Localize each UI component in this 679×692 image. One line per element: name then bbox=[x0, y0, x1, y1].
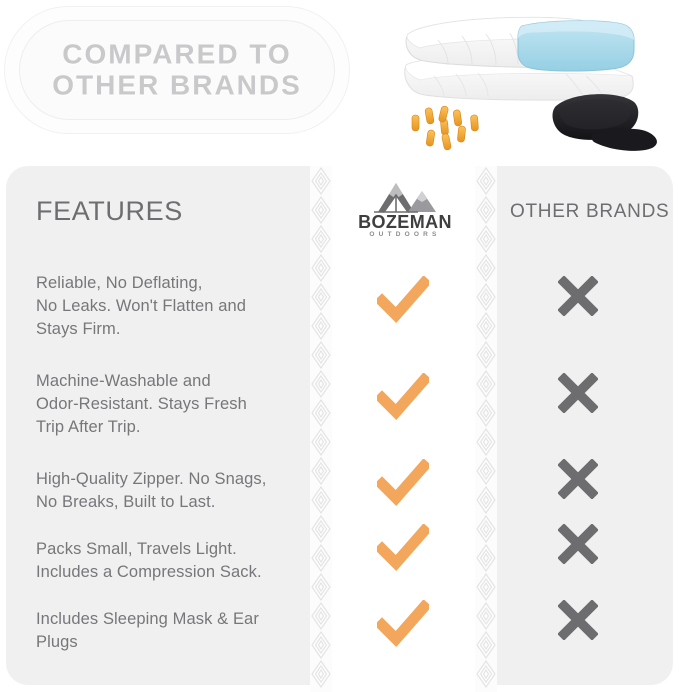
check-icon bbox=[377, 459, 429, 507]
badge-title: Compared to Other Brands bbox=[20, 39, 334, 102]
features-column-header: FEATURES bbox=[36, 196, 183, 227]
diamond-pattern-left bbox=[310, 166, 332, 692]
check-icon bbox=[377, 524, 429, 572]
pillow-blue-foam bbox=[518, 21, 634, 71]
bozeman-check-cell bbox=[330, 373, 475, 429]
bozeman-check-cell bbox=[330, 600, 475, 656]
feature-text: Machine-Washable and Odor-Resistant. Sta… bbox=[36, 370, 304, 439]
bozeman-brand-logo: BOZEMAN OUTDOORS bbox=[355, 182, 455, 244]
sleep-mask-black bbox=[553, 94, 657, 151]
other-brands-cross-cell bbox=[505, 600, 650, 656]
mountain-tent-logo-icon bbox=[366, 182, 444, 214]
other-brands-cross-cell bbox=[505, 524, 650, 580]
badge-title-line-1: Compared to bbox=[20, 39, 334, 70]
diamond-pattern-right bbox=[475, 166, 497, 692]
other-brands-cross-cell bbox=[505, 373, 650, 429]
product-photo bbox=[386, 2, 676, 152]
other-brands-cross-cell bbox=[505, 276, 650, 332]
brand-name: BOZEMAN bbox=[355, 213, 455, 231]
compared-to-other-brands-badge: Compared to Other Brands bbox=[4, 6, 350, 134]
check-icon bbox=[377, 600, 429, 648]
badge-title-line-2: Other Brands bbox=[20, 70, 334, 101]
feature-text: Includes Sleeping Mask & Ear Plugs bbox=[36, 608, 304, 654]
cross-icon bbox=[558, 524, 598, 564]
feature-text: High-Quality Zipper. No Snags, No Breaks… bbox=[36, 468, 304, 514]
ear-plugs-orange bbox=[412, 106, 479, 151]
bozeman-check-cell bbox=[330, 459, 475, 515]
cross-icon bbox=[558, 276, 598, 316]
other-brands-column-header: OTHER BRANDS bbox=[510, 201, 669, 223]
cross-icon bbox=[558, 600, 598, 640]
cross-icon bbox=[558, 373, 598, 413]
check-icon bbox=[377, 276, 429, 324]
other-brands-cross-cell bbox=[505, 459, 650, 515]
bozeman-check-cell bbox=[330, 524, 475, 580]
decorative-ribbon-right bbox=[475, 166, 497, 692]
badge-inner-ring: Compared to Other Brands bbox=[19, 20, 335, 120]
check-icon bbox=[377, 373, 429, 421]
feature-text: Reliable, No Deflating, No Leaks. Won't … bbox=[36, 272, 304, 341]
bozeman-check-cell bbox=[330, 276, 475, 332]
cross-icon bbox=[558, 459, 598, 499]
feature-text: Packs Small, Travels Light. Includes a C… bbox=[36, 538, 304, 584]
product-photo-illustration bbox=[386, 2, 676, 152]
brand-tagline: OUTDOORS bbox=[355, 232, 455, 239]
decorative-ribbon-left bbox=[310, 166, 332, 692]
